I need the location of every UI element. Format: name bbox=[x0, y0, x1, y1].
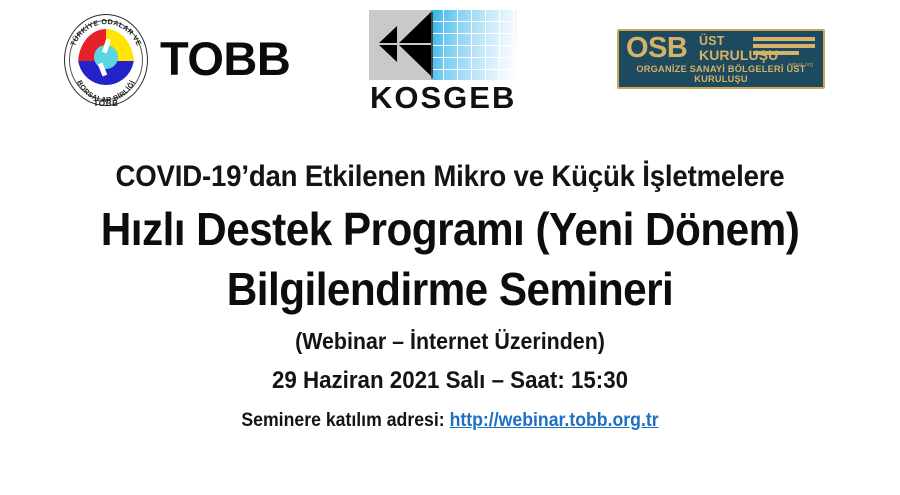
title-line-1: COVID-19’dan Etkilenen Mikro ve Küçük İş… bbox=[36, 160, 864, 194]
event-format: (Webinar – İnternet Üzerinden) bbox=[32, 328, 869, 355]
kosgeb-wordmark: KOSGEB bbox=[369, 82, 517, 113]
tobb-logo: TÜRKİYE ODALAR VE BORSALAR BİRLİĞİ TOBB … bbox=[58, 8, 290, 112]
title-line-3: Bilgilendirme Semineri bbox=[36, 262, 864, 316]
join-instruction: Seminere katılım adresi: http://webinar.… bbox=[32, 410, 869, 432]
join-label: Seminere katılım adresi: bbox=[241, 410, 444, 431]
event-datetime: 29 Haziran 2021 Salı – Saat: 15:30 bbox=[32, 367, 869, 395]
osb-tagline: ORGANİZE SANAYİ BÖLGELERİ ÜST KURULUŞU bbox=[619, 64, 823, 84]
logo-bar: TÜRKİYE ODALAR VE BORSALAR BİRLİĞİ TOBB … bbox=[0, 0, 900, 128]
osb-logo: OSB ÜST KURULUŞU osbuk.org ORGANİZE SANA… bbox=[617, 29, 825, 89]
tobb-emblem-icon: TÜRKİYE ODALAR VE BORSALAR BİRLİĞİ TOBB bbox=[58, 8, 154, 112]
kosgeb-k-glyph-icon bbox=[379, 12, 447, 78]
title-line-2: Hızlı Destek Programı (Yeni Dönem) bbox=[36, 202, 864, 256]
osb-main-text: OSB bbox=[626, 33, 687, 63]
tobb-wordmark: TOBB bbox=[160, 35, 290, 86]
osb-bar-decoration-icon bbox=[753, 37, 815, 58]
kosgeb-logo: KOSGEB bbox=[369, 10, 517, 113]
announcement-body: COVID-19’dan Etkilenen Mikro ve Küçük İş… bbox=[0, 160, 900, 432]
tobb-color-disc bbox=[78, 29, 134, 85]
kosgeb-mark-icon bbox=[369, 10, 517, 80]
tobb-emblem-label: TOBB bbox=[58, 99, 154, 108]
webinar-link[interactable]: http://webinar.tobb.org.tr bbox=[450, 410, 659, 431]
